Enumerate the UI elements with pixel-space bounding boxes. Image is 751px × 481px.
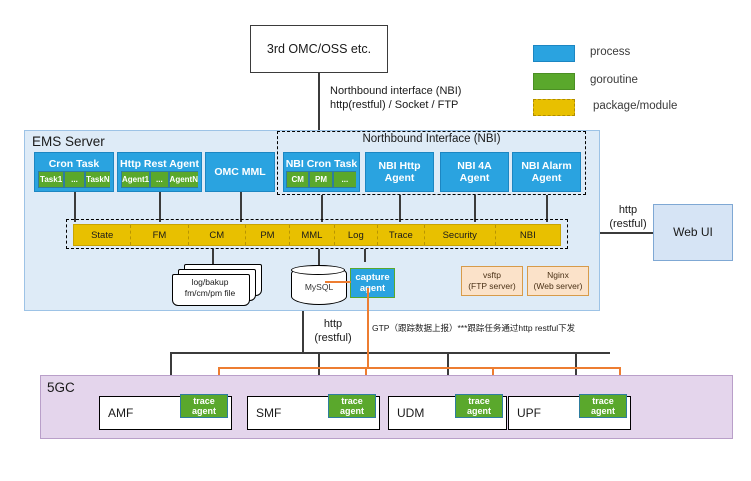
goroutine-agentn[interactable]: AgentN — [169, 171, 198, 188]
process-nbi-alarm-agent-label-line1: NBI Alarm — [521, 160, 571, 172]
file-stack: log/bakup fm/cm/pm file — [172, 264, 264, 306]
web-ui-box[interactable]: Web UI — [653, 204, 733, 261]
nbi-group-title: Northbound Interface (NBI) — [277, 133, 586, 145]
nf-udm-label: UDM — [397, 406, 424, 420]
server-vsftp[interactable]: vsftp (FTP server) — [461, 266, 523, 296]
connector-capture-agent-to-mysql — [325, 281, 351, 283]
file-stack-label-line2: fm/cm/pm file — [172, 288, 248, 299]
legend-swatch-package — [533, 99, 575, 116]
nf-amf-label: AMF — [108, 406, 133, 420]
trace-agent-upf-line2: agent — [591, 406, 615, 416]
connector-modules-to-capture-agent — [364, 249, 366, 262]
legend-label-process: process — [590, 46, 630, 58]
webui-http-annotation: http (restful) — [605, 203, 651, 232]
module-state[interactable]: State — [74, 225, 131, 245]
process-http-rest-agent-label: Http Rest Agent — [120, 158, 199, 170]
file-stack-label-line1: log/bakup — [172, 277, 248, 288]
http-rest-agent-goroutines: Agent1 ... AgentN — [121, 171, 198, 188]
process-nbi-http-agent-label-line2: Agent — [385, 172, 415, 184]
legend-swatch-goroutine — [533, 73, 575, 90]
webui-http-annotation-line2: (restful) — [605, 217, 651, 231]
trace-agent-smf[interactable]: trace agent — [328, 394, 376, 418]
connector-nbi-cron-task-to-modules — [321, 195, 323, 222]
core-5gc-title: 5GC — [47, 380, 75, 395]
connector-http-rest-agent-to-modules — [159, 192, 161, 222]
nf-smf-label: SMF — [256, 406, 281, 420]
module-pm[interactable]: PM — [246, 225, 290, 245]
server-vsftp-line2: (FTP server) — [468, 281, 516, 292]
module-mml[interactable]: MML — [290, 225, 335, 245]
connector-omc-mml-to-modules — [240, 192, 242, 222]
web-ui-label: Web UI — [673, 226, 713, 240]
trace-agent-amf-line1: trace — [193, 396, 215, 406]
mysql-database: MySQL — [291, 265, 345, 303]
trace-agent-amf-line2: agent — [192, 406, 216, 416]
server-vsftp-line1: vsftp — [483, 270, 501, 281]
capture-agent-label-line1: capture — [355, 272, 389, 283]
cron-task-goroutines: Task1 ... TaskN — [38, 171, 110, 188]
http-restful-5gc-line2: (restful) — [310, 331, 356, 345]
process-nbi-4a-agent[interactable]: NBI 4A Agent — [440, 152, 509, 192]
nbi-annotation-line2: http(restful) / Socket / FTP — [330, 98, 461, 112]
process-nbi-4a-agent-label-line1: NBI 4A — [457, 160, 491, 172]
gtp-annotation: GTP（跟踪数据上报）***跟踪任务通过http restful下发 — [372, 322, 575, 334]
trace-agent-amf[interactable]: trace agent — [180, 394, 228, 418]
trace-agent-upf[interactable]: trace agent — [579, 394, 627, 418]
goroutine-nbi-ellipsis[interactable]: ... — [333, 171, 356, 188]
process-nbi-alarm-agent[interactable]: NBI Alarm Agent — [512, 152, 581, 192]
nbi-annotation-line1: Northbound interface (NBI) — [330, 84, 461, 98]
trace-agent-upf-line1: trace — [592, 396, 614, 406]
legend: process goroutine package/module — [533, 42, 733, 114]
diagram-canvas: 3rd OMC/OSS etc. Northbound interface (N… — [0, 0, 751, 481]
process-nbi-cron-task-label: NBI Cron Task — [286, 158, 358, 170]
process-omc-mml[interactable]: OMC MML — [205, 152, 275, 192]
capture-agent[interactable]: capture agent — [350, 268, 395, 298]
trace-agent-smf-line1: trace — [341, 396, 363, 406]
bus-5gc-orange — [218, 367, 620, 369]
goroutine-agent-ellipsis[interactable]: ... — [150, 171, 168, 188]
connector-ems-to-5gc-trunk — [302, 311, 304, 352]
module-fm[interactable]: FM — [131, 225, 188, 245]
server-nginx-line1: Nginx — [547, 270, 569, 281]
file-stack-label: log/bakup fm/cm/pm file — [172, 277, 248, 300]
webui-http-annotation-line1: http — [605, 203, 651, 217]
third-party-omc-oss-label: 3rd OMC/OSS etc. — [267, 42, 371, 56]
module-security[interactable]: Security — [425, 225, 496, 245]
module-nbi[interactable]: NBI — [496, 225, 560, 245]
legend-label-goroutine: goroutine — [590, 74, 638, 86]
http-restful-5gc-annotation: http (restful) — [310, 317, 356, 346]
process-omc-mml-label: OMC MML — [214, 166, 265, 178]
goroutine-agent1[interactable]: Agent1 — [121, 171, 150, 188]
goroutine-cm[interactable]: CM — [286, 171, 309, 188]
mysql-cylinder-top — [291, 265, 345, 275]
connector-nbi-4a-agent-to-modules — [474, 195, 476, 222]
connector-nbi-http-agent-to-modules — [399, 195, 401, 222]
trace-agent-smf-line2: agent — [340, 406, 364, 416]
module-trace[interactable]: Trace — [378, 225, 425, 245]
trace-agent-udm[interactable]: trace agent — [455, 394, 503, 418]
nbi-annotation: Northbound interface (NBI) http(restful)… — [330, 84, 461, 113]
server-nginx[interactable]: Nginx (Web server) — [527, 266, 589, 296]
connector-nbi-alarm-agent-to-modules — [546, 195, 548, 222]
connector-ems-to-webui — [600, 232, 653, 234]
gtp-annotation-text: GTP（跟踪数据上报）***跟踪任务通过http restful下发 — [372, 323, 575, 333]
module-cm[interactable]: CM — [189, 225, 246, 245]
package-module-container: State FM CM PM MML Log Trace Security NB… — [66, 219, 568, 249]
process-nbi-alarm-agent-label-line2: Agent — [532, 172, 562, 184]
process-cron-task-label: Cron Task — [49, 158, 100, 170]
third-party-omc-oss-box: 3rd OMC/OSS etc. — [250, 25, 388, 73]
connector-gtp-trunk-up — [367, 288, 369, 368]
goroutine-task1[interactable]: Task1 — [38, 171, 64, 188]
package-module-strip: State FM CM PM MML Log Trace Security NB… — [73, 224, 561, 246]
mysql-label: MySQL — [305, 282, 333, 292]
goroutine-pm[interactable]: PM — [309, 171, 332, 188]
nf-upf-label: UPF — [517, 406, 541, 420]
trace-agent-udm-line1: trace — [468, 396, 490, 406]
legend-label-package: package/module — [593, 100, 677, 112]
process-nbi-http-agent[interactable]: NBI Http Agent — [365, 152, 434, 192]
bus-5gc-black — [170, 352, 610, 354]
nbi-cron-task-goroutines: CM PM ... — [286, 171, 356, 188]
process-nbi-4a-agent-label-line2: Agent — [460, 172, 490, 184]
process-nbi-http-agent-label-line1: NBI Http — [379, 160, 421, 172]
http-restful-5gc-line1: http — [310, 317, 356, 331]
ems-server-title: EMS Server — [32, 134, 105, 149]
legend-swatch-process — [533, 45, 575, 62]
goroutine-task-ellipsis[interactable]: ... — [64, 171, 85, 188]
capture-agent-label-line2: agent — [360, 283, 385, 294]
server-nginx-line2: (Web server) — [534, 281, 583, 292]
module-log[interactable]: Log — [335, 225, 378, 245]
trace-agent-udm-line2: agent — [467, 406, 491, 416]
connector-omc-to-ems — [318, 73, 320, 131]
goroutine-taskn[interactable]: TaskN — [85, 171, 110, 188]
connector-cron-task-to-modules — [74, 192, 76, 222]
